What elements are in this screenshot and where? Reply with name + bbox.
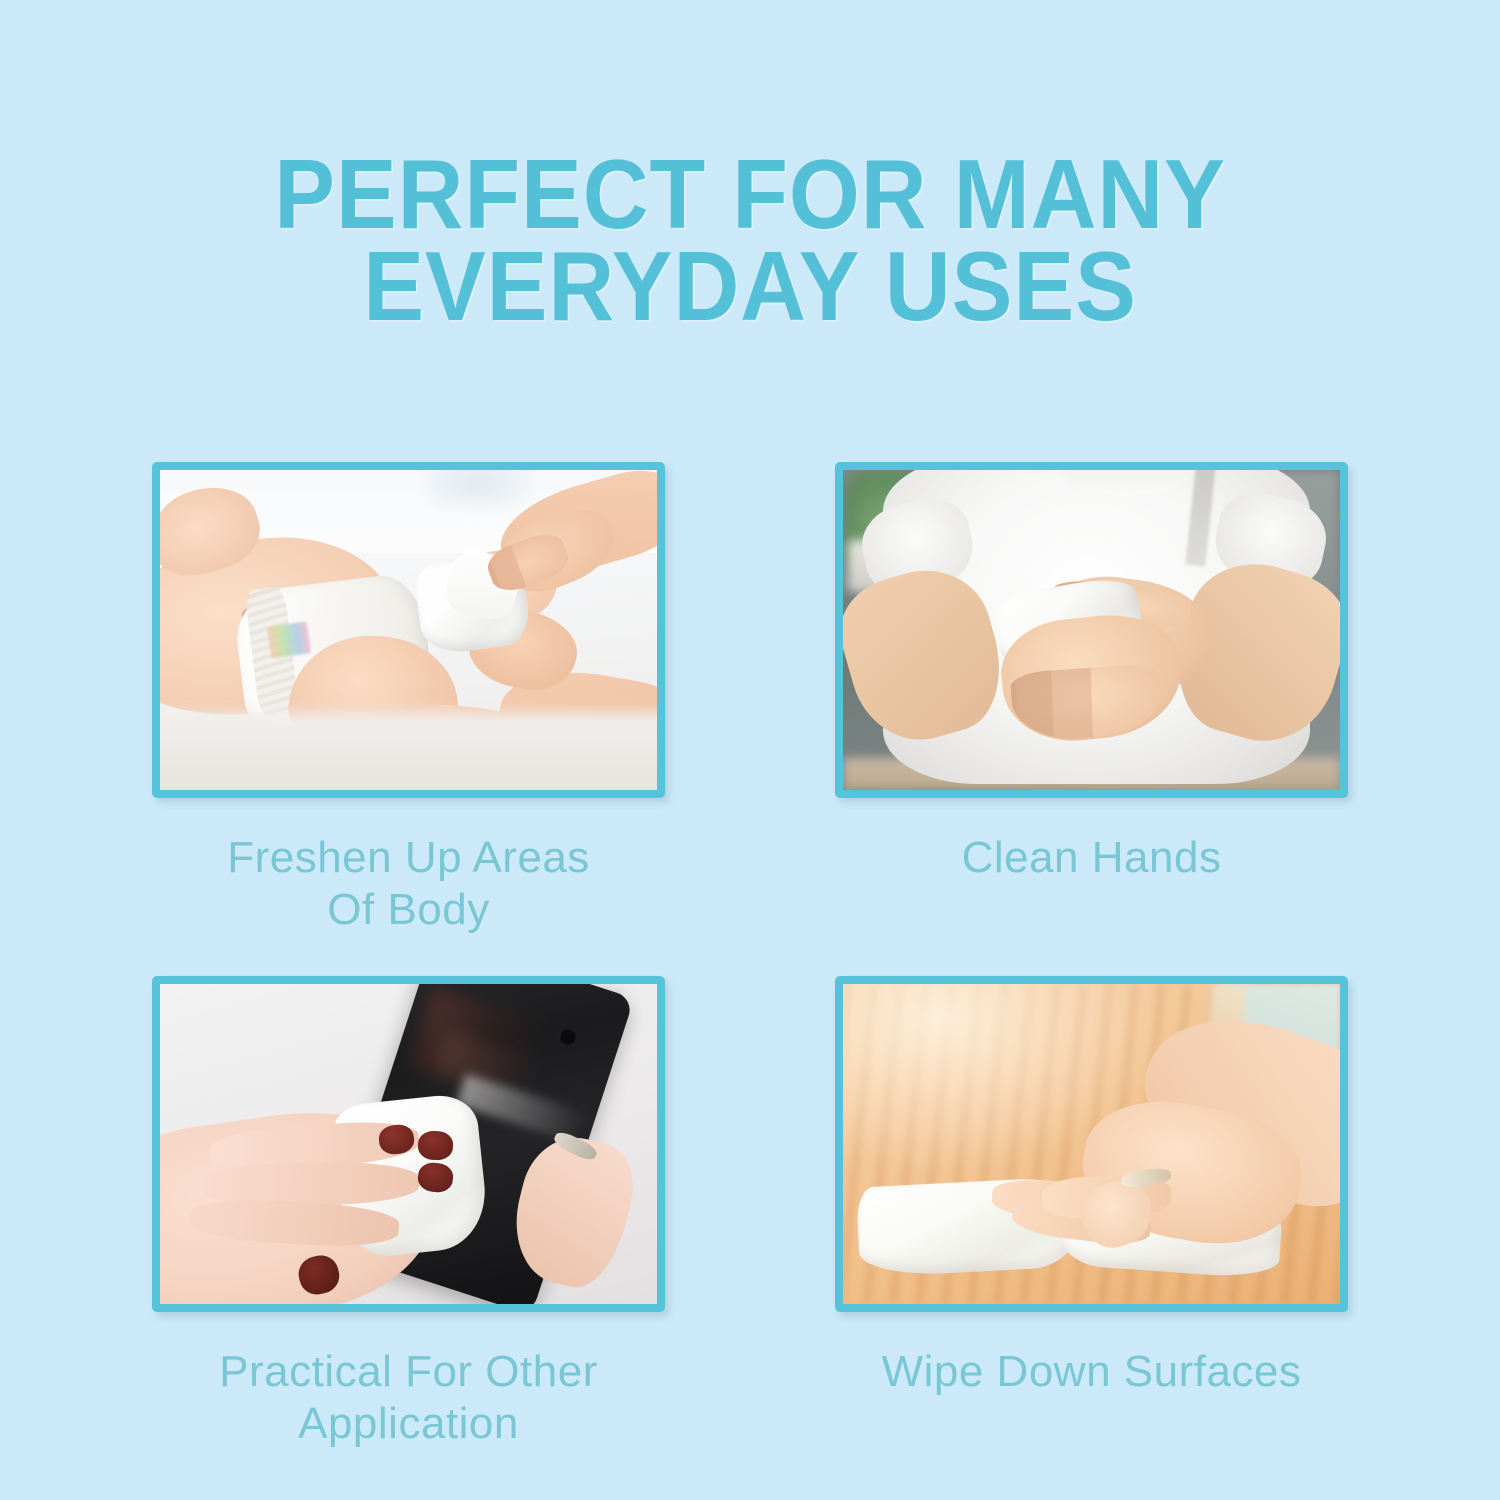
wiping-smartphone-screen-photo	[160, 984, 657, 1304]
page-title: PERFECT FOR MANY EVERYDAY USES	[53, 148, 1448, 332]
use-case-card-wipe-down-surfaces: Wipe Down Surfaces	[835, 976, 1348, 1450]
wiping-wooden-table-photo	[843, 984, 1340, 1304]
use-case-card-clean-hands: Clean Hands	[835, 462, 1348, 936]
page-title-line-2: EVERYDAY USES	[53, 240, 1448, 332]
image-frame	[152, 462, 665, 798]
person-cleaning-hands-photo	[843, 470, 1340, 790]
image-frame	[835, 462, 1348, 798]
image-frame	[835, 976, 1348, 1312]
use-case-card-practical-for-other-application: Practical For Other Application	[152, 976, 665, 1450]
card-caption: Practical For Other Application	[152, 1346, 665, 1450]
use-case-grid: Freshen Up Areas Of Body Clean Hands	[152, 462, 1348, 1450]
image-frame	[152, 976, 665, 1312]
page-title-line-1: PERFECT FOR MANY	[53, 148, 1448, 240]
card-caption: Wipe Down Surfaces	[835, 1346, 1348, 1398]
baby-diaper-change-photo	[160, 470, 657, 790]
card-caption: Clean Hands	[835, 832, 1348, 884]
card-caption: Freshen Up Areas Of Body	[152, 832, 665, 936]
use-case-card-freshen-up-areas-of-body: Freshen Up Areas Of Body	[152, 462, 665, 936]
